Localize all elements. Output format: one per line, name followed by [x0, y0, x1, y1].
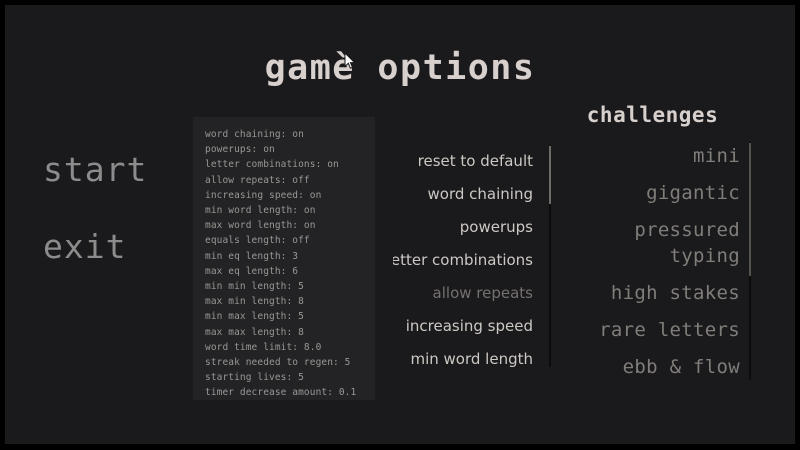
option-item-increasing-speed[interactable]: increasing speed [393, 310, 533, 343]
stat-line: min word length: on [205, 203, 375, 218]
stat-line: min eq length: 3 [205, 249, 375, 264]
options-scrollbar-thumb[interactable] [549, 146, 551, 204]
challenges-heading: challenges [565, 103, 740, 127]
stat-line: increasing speed: on [205, 188, 375, 203]
options-scrollbar-track[interactable] [549, 145, 551, 367]
app-window: gamè options start exit word chaining: o… [0, 0, 800, 450]
option-item-min-word-length[interactable]: min word length [393, 343, 533, 367]
challenge-item-mini[interactable]: mini [575, 143, 740, 169]
stat-line: max word length: on [205, 218, 375, 233]
options-menu-list: reset to default word chaining powerups … [393, 145, 533, 367]
stat-line: max min length: 8 [205, 294, 375, 309]
game-stage: gamè options start exit word chaining: o… [5, 5, 795, 444]
option-item-powerups[interactable]: powerups [393, 211, 533, 244]
challenge-item-gigantic[interactable]: gigantic [575, 180, 740, 206]
stat-line: equals length: off [205, 233, 375, 248]
challenges-list: mini gigantic pressured typing high stak… [575, 143, 740, 380]
challenge-item-pressured-typing[interactable]: pressured typing [575, 217, 740, 269]
settings-summary-panel: word chaining: on powerups: on letter co… [193, 117, 375, 400]
challenge-item-rare-letters[interactable]: rare letters [575, 317, 740, 343]
stat-line: allow repeats: off [205, 173, 375, 188]
stat-line: powerups: on [205, 142, 375, 157]
option-item-letter-combinations[interactable]: letter combinations [393, 244, 533, 277]
stat-line: streak needed to regen: 5 [205, 355, 375, 370]
challenges-scrollbar-thumb[interactable] [749, 143, 751, 276]
stat-line: word chaining: on [205, 127, 375, 142]
stat-line: starting lives: 5 [205, 370, 375, 385]
stat-line: timer decrease amount: 0.1 [205, 385, 375, 400]
nav-item-start[interactable]: start [43, 153, 203, 186]
challenge-item-ebb-and-flow[interactable]: ebb & flow [575, 354, 740, 380]
nav-item-exit[interactable]: exit [43, 230, 203, 263]
page-title: gamè options [5, 48, 795, 88]
challenges-scrollbar-track[interactable] [749, 142, 751, 380]
stat-line: word time limit: 8.0 [205, 340, 375, 355]
stat-line: min min length: 5 [205, 279, 375, 294]
option-item-word-chaining[interactable]: word chaining [393, 178, 533, 211]
stat-line: max eq length: 6 [205, 264, 375, 279]
stat-line: min max length: 5 [205, 309, 375, 324]
left-nav: start exit [43, 153, 203, 263]
stat-line: letter combinations: on [205, 157, 375, 172]
stat-line: max max length: 8 [205, 325, 375, 340]
option-item-reset-to-default[interactable]: reset to default [393, 145, 533, 178]
challenge-item-high-stakes[interactable]: high stakes [575, 280, 740, 306]
option-item-allow-repeats[interactable]: allow repeats [393, 277, 533, 310]
